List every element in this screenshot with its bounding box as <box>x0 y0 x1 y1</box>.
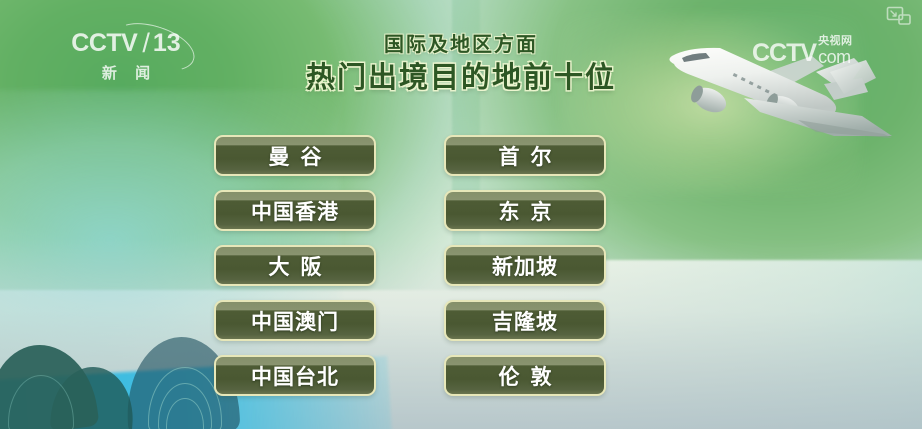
destination-chip-face: 东京 <box>446 192 604 229</box>
destination-grid: 曼谷首尔中国香港东京大阪新加坡中国澳门吉隆坡中国台北伦敦 <box>214 135 606 396</box>
destination-chip[interactable]: 首尔 <box>444 135 606 176</box>
destination-name: 大阪 <box>258 251 333 281</box>
watermark-domain: com <box>818 48 853 66</box>
picture-in-picture-icon[interactable] <box>886 6 912 26</box>
destination-chip-face: 中国香港 <box>216 192 374 229</box>
destination-chip[interactable]: 曼谷 <box>214 135 376 176</box>
cctv13-logo: CCTV / 13 新 闻 <box>58 30 194 83</box>
destination-chip[interactable]: 新加坡 <box>444 245 606 286</box>
destination-chip-face: 新加坡 <box>446 247 604 284</box>
destination-name: 新加坡 <box>492 251 558 281</box>
destination-name: 中国台北 <box>251 361 339 391</box>
watermark-brand: CCTV <box>752 41 816 66</box>
destination-chip-face: 大阪 <box>216 247 374 284</box>
destination-chip-face: 首尔 <box>446 137 604 174</box>
destination-name: 中国香港 <box>251 196 339 226</box>
destination-name: 吉隆坡 <box>492 306 558 336</box>
destination-chip[interactable]: 中国澳门 <box>214 300 376 341</box>
watermark-cn-name: 央视网 <box>818 36 853 47</box>
destination-chip[interactable]: 吉隆坡 <box>444 300 606 341</box>
destination-name: 东京 <box>488 196 563 226</box>
cctv-com-watermark: CCTV 央视网 com <box>752 36 853 66</box>
broadcast-graphic-screen: CCTV / 13 新 闻 CCTV 央视网 com 国际及地区方面 热门出境目… <box>0 0 922 429</box>
destination-chip-face: 中国澳门 <box>216 302 374 339</box>
destination-chip-face: 曼谷 <box>216 137 374 174</box>
destination-name: 伦敦 <box>488 361 563 391</box>
destination-chip[interactable]: 大阪 <box>214 245 376 286</box>
destination-chip-face: 吉隆坡 <box>446 302 604 339</box>
destination-chip-face: 中国台北 <box>216 357 374 394</box>
destination-name: 曼谷 <box>258 141 333 171</box>
destination-name: 中国澳门 <box>251 306 339 336</box>
destination-name: 首尔 <box>488 141 563 171</box>
destination-chip-face: 伦敦 <box>446 357 604 394</box>
destination-chip[interactable]: 中国香港 <box>214 190 376 231</box>
destination-chip[interactable]: 伦敦 <box>444 355 606 396</box>
destination-chip[interactable]: 东京 <box>444 190 606 231</box>
destination-chip[interactable]: 中国台北 <box>214 355 376 396</box>
